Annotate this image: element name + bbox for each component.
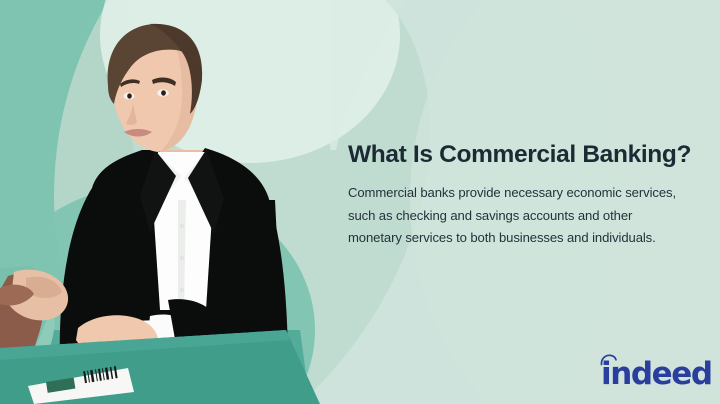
content-layer: What Is Commercial Banking? Commercial b… [0, 0, 720, 404]
hero-description: Commercial banks provide necessary econo… [348, 182, 714, 250]
page-title: What Is Commercial Banking? [348, 141, 714, 168]
indeed-logo-text: indeed [601, 356, 712, 392]
description-line-3: monetary services to both businesses and… [348, 227, 714, 250]
indeed-logo[interactable]: indeed [601, 356, 712, 390]
hero-text-block: What Is Commercial Banking? Commercial b… [348, 141, 714, 250]
description-line-1: Commercial banks provide necessary econo… [348, 182, 714, 205]
indeed-swoosh-accent-icon [600, 354, 617, 366]
description-line-2: such as checking and savings accounts an… [348, 205, 714, 228]
indeed-wordmark: indeed [601, 359, 712, 390]
infographic-card: What Is Commercial Banking? Commercial b… [0, 0, 720, 404]
